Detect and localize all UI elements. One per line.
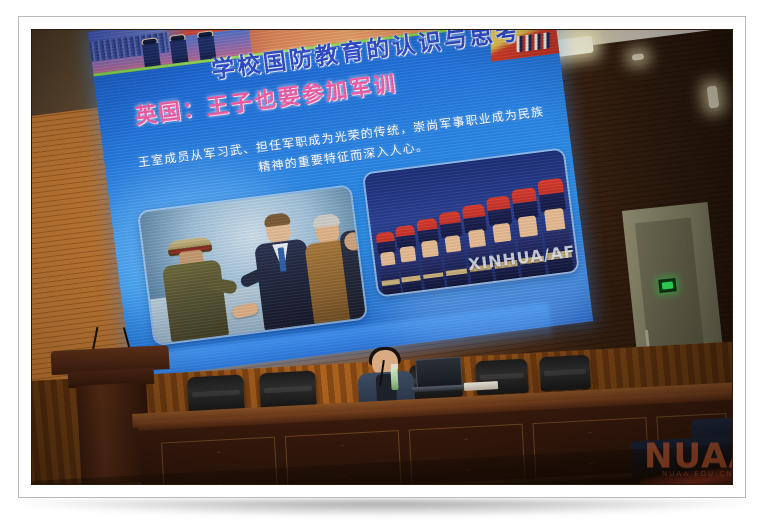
screenshot-root: 学校国防教育的认识与思考 英国：王子也要参加军训 王室成员从军习武、担任军职成为… bbox=[0, 0, 764, 529]
military-officer-figure bbox=[156, 227, 231, 342]
executive-chair bbox=[539, 355, 591, 392]
cadets-formation-photo: XINHUA/AFP bbox=[364, 149, 578, 295]
handshake-photo bbox=[139, 186, 366, 344]
exit-running-man-icon bbox=[662, 281, 674, 289]
head bbox=[343, 231, 363, 251]
emergency-exit-sign bbox=[658, 278, 676, 293]
photograph: 学校国防教育的认识与思考 英国：王子也要参加军训 王室成员从军习武、担任军职成为… bbox=[32, 30, 732, 484]
water-bottle bbox=[390, 368, 398, 390]
frame-drop-shadow bbox=[26, 500, 742, 516]
officer-uniform bbox=[162, 259, 229, 342]
executive-chair bbox=[259, 371, 317, 410]
